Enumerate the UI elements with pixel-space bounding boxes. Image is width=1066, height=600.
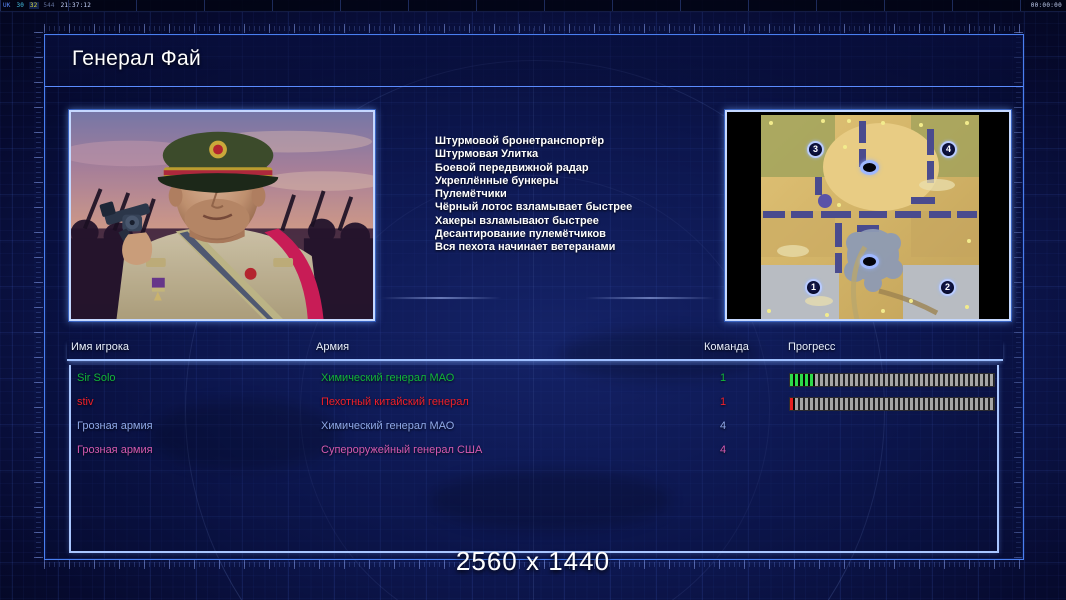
player-team: 1 xyxy=(711,396,735,408)
game-screen: UK 30 32 544 21:37:12 00:00:00 Генерал Ф… xyxy=(0,0,1066,600)
player-name: Грозная армия xyxy=(77,444,153,456)
player-name: Sir Solo xyxy=(77,372,116,384)
stat-clock: 21:37:12 xyxy=(60,2,93,9)
player-progress-bar xyxy=(789,373,995,387)
map-oil-derrick-icon xyxy=(860,160,879,175)
general-portrait-image xyxy=(71,112,373,320)
stat-ping: 30 xyxy=(15,2,25,9)
ruler-left xyxy=(34,32,43,560)
column-header-player: Имя игрока xyxy=(71,341,129,353)
general-info-panel: Генерал Фай xyxy=(44,34,1024,560)
decor-line-right xyxy=(585,297,715,299)
ability-item: Хакеры взламывают быстрее xyxy=(435,215,715,228)
general-abilities-list: Штурмовой бронетранспортёр Штурмовая Ули… xyxy=(435,135,715,255)
player-team: 4 xyxy=(711,444,735,456)
progress-fill xyxy=(790,398,795,410)
player-progress-bar xyxy=(789,397,995,411)
network-stats: UK 30 32 544 21:37:12 xyxy=(2,1,92,10)
resolution-overlay: 2560 x 1440 xyxy=(0,546,1066,577)
table-row[interactable]: stiv Пехотный китайский генерал 1 xyxy=(71,393,997,417)
ability-item: Пулемётчики xyxy=(435,188,715,201)
top-status-bar: UK 30 32 544 21:37:12 00:00:00 xyxy=(0,0,1066,12)
progress-track xyxy=(790,374,994,386)
ability-item: Штурмовая Улитка xyxy=(435,148,715,161)
ability-item: Десантирование пулемётчиков xyxy=(435,228,715,241)
general-content-frame: Штурмовой бронетранспортёр Штурмовая Ули… xyxy=(65,105,1005,250)
player-army: Пехотный китайский генерал xyxy=(321,396,469,408)
player-name: Грозная армия xyxy=(77,420,153,432)
player-name: stiv xyxy=(77,396,94,408)
column-header-team: Команда xyxy=(704,341,749,353)
player-army: Химический генерал МАО xyxy=(321,420,454,432)
progress-track xyxy=(790,398,994,410)
player-team: 4 xyxy=(711,420,735,432)
column-header-army: Армия xyxy=(316,341,349,353)
ability-item: Укреплённые бункеры xyxy=(435,175,715,188)
map-start-position: 4 xyxy=(940,141,957,158)
ability-item: Чёрный лотос взламывает быстрее xyxy=(435,201,715,214)
decor-line-left xyxy=(381,297,501,299)
game-timer: 00:00:00 xyxy=(1031,1,1062,10)
player-table-header: Имя игрока Армия Команда Прогресс xyxy=(67,341,1003,361)
status-bar-ticks xyxy=(0,0,1066,11)
player-table-body: Sir Solo Химический генерал МАО 1 stiv П… xyxy=(69,365,999,553)
table-row[interactable]: Грозная армия Химический генерал МАО 4 xyxy=(71,417,997,441)
table-row[interactable]: Грозная армия Супероружейный генерал США… xyxy=(71,441,997,465)
map-preview-image: 3 4 1 2 xyxy=(761,115,979,320)
table-row[interactable]: Sir Solo Химический генерал МАО 1 xyxy=(71,369,997,393)
ruler-top xyxy=(44,24,1024,33)
map-start-position: 1 xyxy=(805,279,822,296)
stat-region: UK xyxy=(2,2,12,9)
ability-item: Боевой передвижной радар xyxy=(435,162,715,175)
progress-fill xyxy=(790,374,815,386)
map-start-position: 2 xyxy=(939,279,956,296)
stat-packets: 544 xyxy=(42,2,55,9)
map-preview[interactable]: 3 4 1 2 xyxy=(725,110,1011,321)
page-title: Генерал Фай xyxy=(72,47,201,71)
ability-item: Вся пехота начинает ветеранами xyxy=(435,241,715,254)
player-army: Супероружейный генерал США xyxy=(321,444,482,456)
player-team: 1 xyxy=(711,372,735,384)
column-header-progress: Прогресс xyxy=(788,341,835,353)
general-portrait xyxy=(69,110,375,321)
player-army: Химический генерал МАО xyxy=(321,372,454,384)
map-oil-derrick-icon xyxy=(860,254,879,269)
ability-item: Штурмовой бронетранспортёр xyxy=(435,135,715,148)
stat-fps: 32 xyxy=(29,2,39,9)
title-band: Генерал Фай xyxy=(45,35,1023,87)
map-start-position: 3 xyxy=(807,141,824,158)
